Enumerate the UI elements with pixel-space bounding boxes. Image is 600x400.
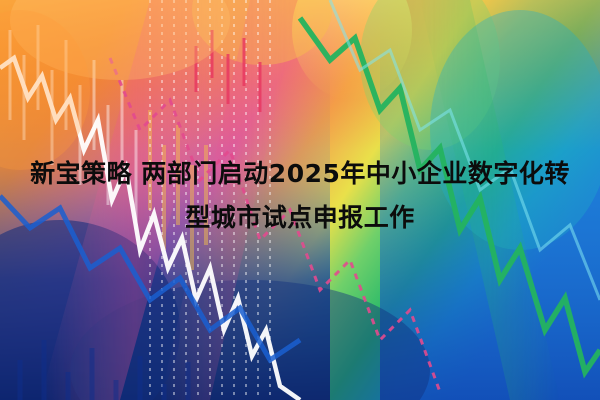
abstract-financial-chart-background xyxy=(0,0,600,400)
screenshot-root: 新宝策略 两部门启动2025年中小企业数字化转型城市试点申报工作 xyxy=(0,0,600,400)
